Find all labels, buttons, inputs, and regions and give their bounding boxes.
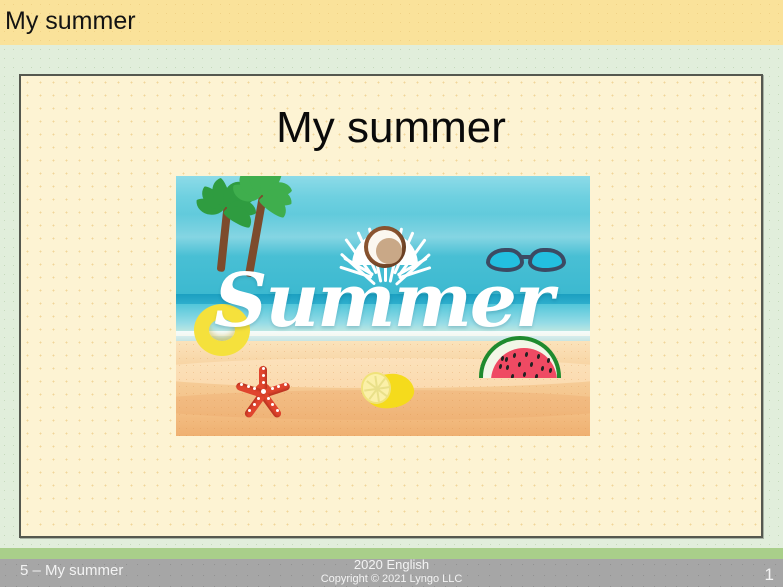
watermelon-icon [479, 336, 561, 378]
starfish-dot [262, 374, 265, 377]
footer-copyright-label: Copyright © 2021 Lyngo LLC [0, 572, 783, 586]
starfish-dot [276, 409, 279, 412]
footer-course-label: 2020 English [0, 558, 783, 572]
slide-title: My summer [21, 103, 761, 153]
watermelon-seed [523, 372, 527, 378]
starfish-dot [262, 381, 265, 384]
slide[interactable]: My summer Summer [19, 74, 763, 538]
app-title: My summer [5, 7, 136, 36]
watermelon-seed [530, 362, 534, 368]
watermelon-flesh [491, 348, 557, 378]
watermelon-seed [506, 365, 510, 371]
starfish-dot [271, 387, 274, 390]
summer-wordmark: Summer [176, 264, 590, 338]
watermelon-seed [518, 362, 522, 368]
summer-beach-image[interactable]: Summer [176, 176, 590, 436]
starfish-dot [284, 383, 287, 386]
watermelon-seed [535, 374, 539, 378]
watermelon-seed [549, 368, 553, 374]
footer-bar: 5 – My summer 2020 English Copyright © 2… [0, 559, 783, 587]
watermelon-seed [537, 354, 541, 360]
app-title-bar: My summer [0, 0, 783, 45]
starfish-dot [247, 385, 250, 388]
starfish-dot [253, 403, 256, 406]
footer-page-number: 1 [765, 565, 774, 585]
starfish-center-dot [261, 389, 266, 394]
watermelon-seed [511, 374, 515, 378]
watermelon-seed [525, 352, 529, 358]
starfish-dot [262, 367, 265, 370]
watermelon-seed [541, 366, 545, 372]
watermelon-pith [483, 340, 557, 378]
watermelon-rind [479, 336, 561, 378]
watermelon-seed [547, 358, 551, 364]
watermelon-seed [513, 353, 517, 359]
watermelon-seed [499, 364, 503, 370]
watermelon-seed [505, 357, 509, 363]
starfish-icon [234, 362, 292, 420]
footer-center-block: 2020 English Copyright © 2021 Lyngo LLC [0, 558, 783, 586]
